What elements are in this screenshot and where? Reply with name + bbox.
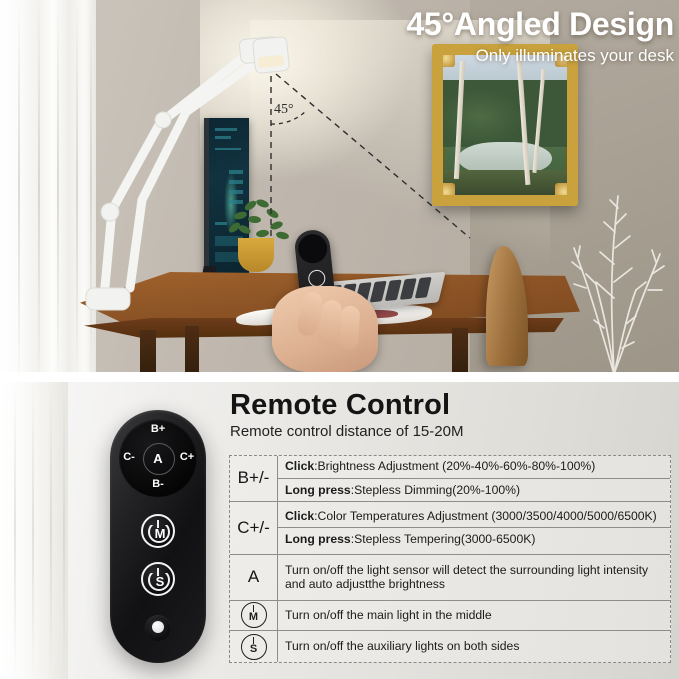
desk-leg xyxy=(452,328,468,372)
row-key: B+/- xyxy=(230,456,278,501)
row-line-bold: Long press xyxy=(285,532,351,546)
desk-leg xyxy=(185,326,199,372)
top-scene-panel: 45° 45°Angled Design Only illuminates yo… xyxy=(0,0,679,372)
row-line-bold: Click xyxy=(285,459,314,473)
table-row: M Turn on/off the main light in the midd… xyxy=(230,601,670,632)
power-s-icon: S xyxy=(241,634,267,660)
led-indicator xyxy=(145,615,171,641)
row-line-text: :Stepless Dimming(20%-100%) xyxy=(351,483,520,497)
panel-divider xyxy=(0,372,679,382)
infographic-page: 45° 45°Angled Design Only illuminates yo… xyxy=(0,0,679,679)
table-row: B+/- Click:Brightness Adjustment (20%-40… xyxy=(230,456,670,502)
row-line-bold: Long press xyxy=(285,483,351,497)
power-m-icon: M xyxy=(241,602,267,628)
painting-art xyxy=(443,55,567,195)
row-line-text: :Brightness Adjustment (20%-40%-60%-80%-… xyxy=(314,459,595,473)
top-subtitle: Only illuminates your desk xyxy=(388,46,674,66)
table-row: S Turn on/off the auxiliary lights on bo… xyxy=(230,631,670,662)
row-line-text: Turn on/off the light sensor will detect… xyxy=(285,563,648,592)
main-light-power-button: M xyxy=(141,514,175,548)
row-key: A xyxy=(230,555,278,599)
row-line-text: Turn on/off the main light in the middle xyxy=(285,608,492,622)
remote-control-device: B+ C- A C+ B- M S xyxy=(110,410,206,663)
side-light-power-label: S xyxy=(143,575,177,588)
power-m-label: M xyxy=(242,612,266,623)
dpad-up-label: B+ xyxy=(110,423,206,435)
plant-pot xyxy=(238,238,274,272)
row-value: Click:Color Temperatures Adjustment (300… xyxy=(278,502,670,555)
row-value: Turn on/off the light sensor will detect… xyxy=(278,555,670,599)
row-key-icon: S xyxy=(230,631,278,662)
row-value: Turn on/off the auxiliary lights on both… xyxy=(278,631,670,662)
angle-label: 45° xyxy=(274,102,294,118)
bottom-curtain xyxy=(0,382,68,679)
row-value: Turn on/off the main light in the middle xyxy=(278,601,670,631)
row-line: Turn on/off the light sensor will detect… xyxy=(278,559,670,597)
row-line: Turn on/off the auxiliary lights on both… xyxy=(278,635,670,658)
row-line: Long press:Stepless Dimming(20%-100%) xyxy=(278,479,670,502)
side-light-power-button: S xyxy=(141,562,175,596)
row-line: Turn on/off the main light in the middle xyxy=(278,604,670,627)
power-s-label: S xyxy=(242,644,266,655)
row-line-text: Turn on/off the auxiliary lights on both… xyxy=(285,639,519,653)
row-line: Click:Brightness Adjustment (20%-40%-60%… xyxy=(278,455,670,479)
table-row: A Turn on/off the light sensor will dete… xyxy=(230,555,670,600)
row-line: Long press:Stepless Tempering(3000-6500K… xyxy=(278,528,670,551)
table-row: C+/- Click:Color Temperatures Adjustment… xyxy=(230,502,670,556)
top-title: 45°Angled Design xyxy=(388,6,674,43)
decorative-branches xyxy=(552,178,678,372)
dpad-down-label: B- xyxy=(110,478,206,490)
row-line: Click:Color Temperatures Adjustment (300… xyxy=(278,505,670,529)
main-light-power-label: M xyxy=(143,527,177,540)
row-line-text: :Stepless Tempering(3000-6500K) xyxy=(351,532,536,546)
row-line-bold: Click xyxy=(285,509,314,523)
row-key: C+/- xyxy=(230,502,278,555)
bottom-title: Remote Control xyxy=(230,389,450,422)
finger xyxy=(338,305,360,350)
bottom-subtitle: Remote control distance of 15-20M xyxy=(230,423,463,440)
row-value: Click:Brightness Adjustment (20%-40%-60%… xyxy=(278,456,670,501)
row-line-text: :Color Temperatures Adjustment (3000/350… xyxy=(314,509,657,523)
remote-function-table: B+/- Click:Brightness Adjustment (20%-40… xyxy=(229,455,671,663)
dpad-right-label: C+ xyxy=(176,451,198,463)
curtain xyxy=(0,0,96,372)
desk-leg xyxy=(140,330,156,372)
framed-painting xyxy=(432,44,578,206)
row-key-icon: M xyxy=(230,601,278,631)
